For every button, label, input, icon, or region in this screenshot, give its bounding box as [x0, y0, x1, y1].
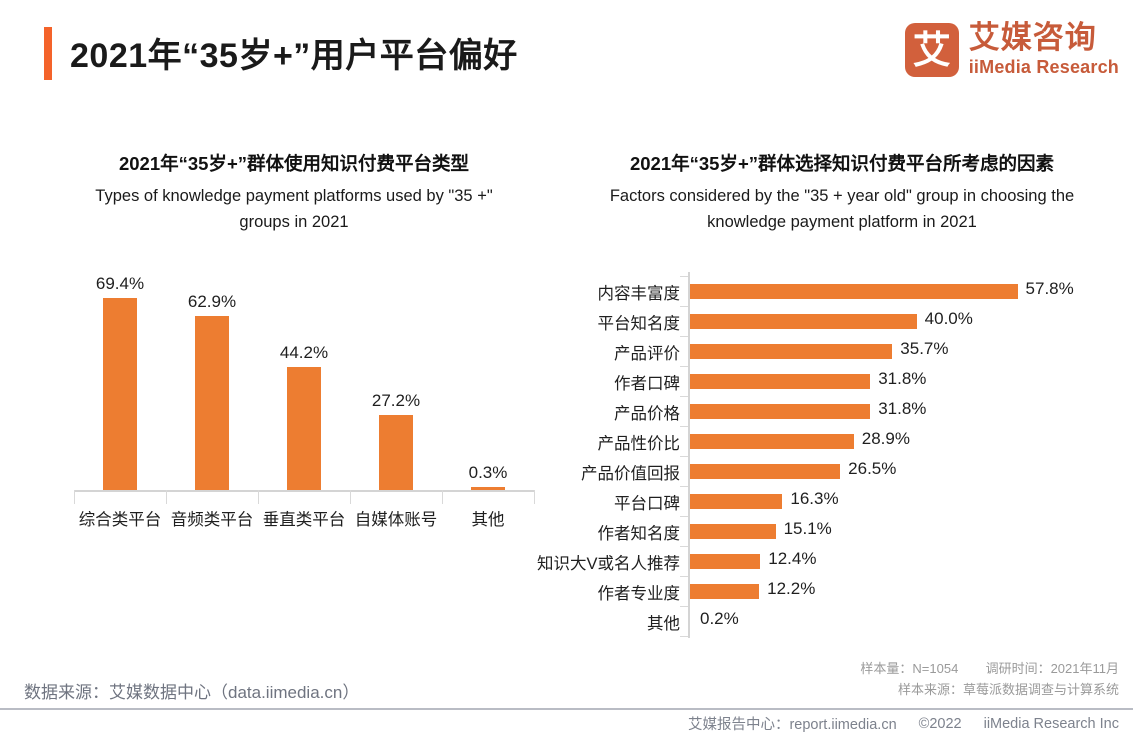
logo-name-en: iiMedia Research: [969, 57, 1119, 79]
y-axis-tick: [680, 516, 688, 517]
logo-name-cn: 艾媒咨询: [969, 22, 1119, 55]
x-axis-tick: [350, 490, 351, 504]
left-chart-title-en: Types of knowledge payment platforms use…: [34, 183, 554, 235]
horizontal-bar[interactable]: [690, 434, 854, 449]
horizontal-bar-category-label: 平台口碑: [450, 490, 680, 514]
horizontal-bar[interactable]: [690, 314, 917, 329]
sample-note-line1: 样本量：N=1054 调研时间：2021年11月: [860, 658, 1119, 679]
x-axis-tick: [74, 490, 75, 504]
horizontal-bar[interactable]: [690, 524, 776, 539]
vertical-bar-value-label: 62.9%: [166, 292, 258, 312]
horizontal-bar-category-label: 作者知名度: [450, 520, 680, 544]
y-axis-tick: [680, 606, 688, 607]
horizontal-bar-value-label: 26.5%: [848, 459, 896, 479]
vertical-bar-group: 27.2%: [350, 282, 442, 490]
horizontal-bar-category-label: 作者专业度: [450, 580, 680, 604]
right-chart-title-cn: 2021年“35岁+”群体选择知识付费平台所考虑的因素: [562, 150, 1122, 176]
vertical-bar-group: 44.2%: [258, 282, 350, 490]
horizontal-bar-row: 平台口碑16.3%: [520, 486, 1120, 516]
y-axis-tick: [680, 366, 688, 367]
x-axis-tick: [442, 490, 443, 504]
y-axis-tick: [680, 486, 688, 487]
horizontal-bar-row: 产品价值回报26.5%: [520, 456, 1120, 486]
page-header: 2021年“35岁+”用户平台偏好 艾 艾媒咨询 iiMedia Researc…: [0, 0, 1133, 110]
y-axis-tick: [680, 306, 688, 307]
brand-logo: 艾 艾媒咨询 iiMedia Research: [905, 22, 1119, 78]
left-chart-title-en-line1: Types of knowledge payment platforms use…: [34, 183, 554, 209]
y-axis-tick: [680, 426, 688, 427]
y-axis-tick: [680, 276, 688, 277]
horizontal-bar-category-label: 产品价格: [450, 400, 680, 424]
horizontal-bar-row: 产品价格31.8%: [520, 396, 1120, 426]
horizontal-bar-row: 作者知名度15.1%: [520, 516, 1120, 546]
vertical-bar-value-label: 44.2%: [258, 343, 350, 363]
logo-mark-icon: 艾: [905, 23, 959, 77]
footer-bar: 艾媒报告中心：report.iimedia.cn ©2022 iiMedia R…: [0, 710, 1133, 737]
horizontal-bar[interactable]: [690, 464, 840, 479]
horizontal-bar[interactable]: [690, 494, 782, 509]
vertical-bar[interactable]: [379, 415, 413, 490]
horizontal-bar-category-label: 平台知名度: [450, 310, 680, 334]
horizontal-bar-row: 平台知名度40.0%: [520, 306, 1120, 336]
vertical-bar-group: 69.4%: [74, 282, 166, 490]
horizontal-bar-value-label: 15.1%: [784, 519, 832, 539]
horizontal-bar-value-label: 12.4%: [768, 549, 816, 569]
y-axis-tick: [680, 576, 688, 577]
vertical-bar-category-label: 综合类平台: [74, 506, 166, 530]
horizontal-bar-row: 其他0.2%: [520, 606, 1120, 636]
horizontal-bar-category-label: 产品价值回报: [450, 460, 680, 484]
report-center-link[interactable]: 艾媒报告中心：report.iimedia.cn: [688, 713, 897, 734]
vertical-bar-value-label: 27.2%: [350, 391, 442, 411]
horizontal-bar-row: 内容丰富度57.8%: [520, 276, 1120, 306]
vertical-bar[interactable]: [103, 298, 137, 490]
left-chart-title-en-line2: groups in 2021: [34, 209, 554, 235]
vertical-bar-category-label: 垂直类平台: [258, 506, 350, 530]
horizontal-bar-row: 产品性价比28.9%: [520, 426, 1120, 456]
y-axis-tick: [680, 546, 688, 547]
vertical-bar-category-label: 自媒体账号: [350, 506, 442, 530]
data-source-label: 数据来源：艾媒数据中心（data.iimedia.cn）: [24, 678, 359, 703]
horizontal-bar[interactable]: [690, 344, 892, 359]
horizontal-bar-category-label: 作者口碑: [450, 370, 680, 394]
y-axis-tick: [680, 336, 688, 337]
horizontal-bar-row: 知识大V或名人推荐12.4%: [520, 546, 1120, 576]
y-axis-tick: [680, 456, 688, 457]
horizontal-bar[interactable]: [690, 554, 760, 569]
horizontal-bar-value-label: 28.9%: [862, 429, 910, 449]
horizontal-bar-category-label: 内容丰富度: [450, 280, 680, 304]
right-chart-header: 2021年“35岁+”群体选择知识付费平台所考虑的因素 Factors cons…: [562, 150, 1122, 235]
horizontal-bar-value-label: 40.0%: [925, 309, 973, 329]
horizontal-bar[interactable]: [690, 584, 759, 599]
company-label: iiMedia Research Inc: [984, 716, 1119, 732]
vertical-bar-value-label: 69.4%: [74, 274, 166, 294]
horizontal-bar-value-label: 12.2%: [767, 579, 815, 599]
horizontal-bar-value-label: 57.8%: [1026, 279, 1074, 299]
left-chart-header: 2021年“35岁+”群体使用知识付费平台类型 Types of knowled…: [34, 150, 554, 235]
y-axis-tick: [680, 636, 688, 637]
right-chart-title-en: Factors considered by the "35 + year old…: [562, 183, 1122, 235]
right-chart-title-en-line2: knowledge payment platform in 2021: [562, 209, 1122, 235]
horizontal-bar-row: 作者口碑31.8%: [520, 366, 1120, 396]
vertical-bar[interactable]: [195, 316, 229, 490]
horizontal-bar-category-label: 产品性价比: [450, 430, 680, 454]
horizontal-bar-category-label: 产品评价: [450, 340, 680, 364]
sample-size-label: 样本量：N=1054: [860, 661, 958, 676]
sample-source-label: 样本来源：草莓派数据调查与计算系统: [860, 679, 1119, 700]
horizontal-bar-value-label: 0.2%: [700, 609, 739, 629]
x-axis-tick: [166, 490, 167, 504]
vertical-bar-group: 62.9%: [166, 282, 258, 490]
horizontal-bar-value-label: 31.8%: [878, 399, 926, 419]
horizontal-bar[interactable]: [690, 404, 870, 419]
y-axis-tick: [680, 396, 688, 397]
vertical-bar-category-label: 音频类平台: [166, 506, 258, 530]
sample-note: 样本量：N=1054 调研时间：2021年11月 样本来源：草莓派数据调查与计算…: [860, 658, 1119, 700]
horizontal-bar-value-label: 16.3%: [790, 489, 838, 509]
horizontal-bar-row: 作者专业度12.2%: [520, 576, 1120, 606]
survey-time-label: 调研时间：2021年11月: [986, 661, 1119, 676]
horizontal-bar-value-label: 31.8%: [878, 369, 926, 389]
logo-text: 艾媒咨询 iiMedia Research: [969, 22, 1119, 78]
horizontal-bar-category-label: 知识大V或名人推荐: [450, 550, 680, 574]
page-title: 2021年“35岁+”用户平台偏好: [70, 28, 518, 77]
x-axis-tick: [258, 490, 259, 504]
right-chart-title-en-line1: Factors considered by the "35 + year old…: [562, 183, 1122, 209]
horizontal-bar-category-label: 其他: [450, 610, 680, 634]
horizontal-bar-row: 产品评价35.7%: [520, 336, 1120, 366]
horizontal-bar-chart: 内容丰富度57.8%平台知名度40.0%产品评价35.7%作者口碑31.8%产品…: [520, 272, 1120, 634]
left-chart-title-cn: 2021年“35岁+”群体使用知识付费平台类型: [34, 150, 554, 176]
horizontal-bar[interactable]: [690, 284, 1018, 299]
copyright-label: ©2022: [919, 716, 962, 732]
horizontal-bar-value-label: 35.7%: [900, 339, 948, 359]
horizontal-bar[interactable]: [690, 374, 870, 389]
title-accent-bar: [44, 27, 52, 80]
vertical-bar[interactable]: [287, 367, 321, 490]
